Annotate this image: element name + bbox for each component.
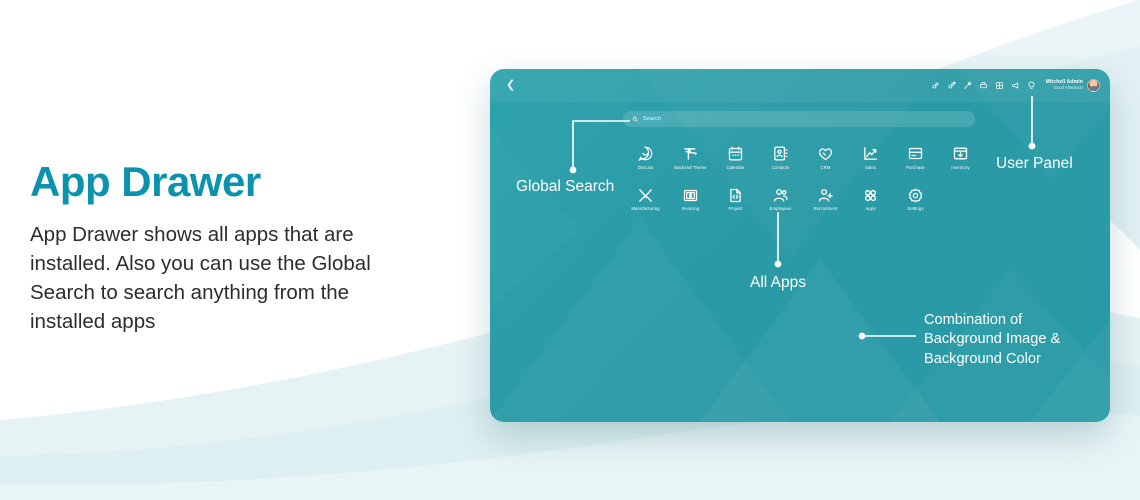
- app-label: Recruitment: [813, 207, 837, 211]
- app-row-1: Discuss Backend Theme: [623, 143, 983, 170]
- app-sales[interactable]: Sales: [848, 143, 893, 170]
- search-placeholder: Search: [643, 116, 661, 122]
- app-label: Apps: [865, 207, 875, 211]
- callout-label-all-apps: All Apps: [750, 273, 806, 293]
- app-label: Calendar: [726, 166, 744, 170]
- app-apps[interactable]: Apps: [848, 185, 893, 212]
- app-label: Invoicing: [682, 207, 700, 211]
- grid-icon[interactable]: [995, 81, 1004, 90]
- deco-triangle-6: [490, 129, 580, 309]
- people-icon: [772, 187, 789, 204]
- app-label: CRM: [820, 166, 830, 170]
- app-label: Inventory: [951, 166, 969, 170]
- bug-icon[interactable]: [931, 81, 940, 90]
- code-file-icon: [727, 187, 744, 204]
- app-employees[interactable]: Employees: [758, 185, 803, 212]
- gear-icon: [907, 187, 924, 204]
- app-grid: Discuss Backend Theme: [623, 143, 983, 212]
- user-text-block: Mitchell Admin Good Afternoon: [1046, 80, 1083, 90]
- system-icons-group: Mitchell Admin Good Afternoon: [931, 79, 1100, 92]
- deco-triangle-2: [700, 259, 940, 422]
- apps-grid-icon: [862, 187, 879, 204]
- callout-label-global-search: Global Search: [516, 177, 614, 197]
- chevron-left-icon[interactable]: ❮: [506, 80, 515, 91]
- app-label: Settings: [907, 207, 923, 211]
- app-settings[interactable]: Settings: [893, 185, 938, 212]
- deco-triangle-1: [490, 219, 790, 422]
- app-drawer-panel: ❮: [490, 69, 1110, 422]
- app-row-2: Manufacturing Invoicing: [623, 185, 983, 212]
- app-discuss[interactable]: Discuss: [623, 143, 668, 170]
- wrench-icon[interactable]: [963, 81, 972, 90]
- print-icon[interactable]: [979, 81, 988, 90]
- panel-top-bar: ❮: [490, 69, 1110, 102]
- intro-copy: App Drawer App Drawer shows all apps tha…: [30, 160, 450, 337]
- app-purchase[interactable]: Purchase: [893, 143, 938, 170]
- page-title: App Drawer: [30, 160, 450, 204]
- callout-label-background: Combination of Background Image & Backgr…: [924, 311, 1060, 369]
- tools-icon: [637, 187, 654, 204]
- app-label: Backend Theme: [674, 166, 706, 170]
- search-input[interactable]: Search: [623, 111, 975, 127]
- search-icon: [632, 116, 638, 122]
- person-add-icon: [817, 187, 834, 204]
- line-chart-icon: [862, 145, 879, 162]
- user-panel[interactable]: Mitchell Admin Good Afternoon: [1046, 79, 1100, 92]
- discuss-icon: [637, 145, 654, 162]
- megaphone-icon[interactable]: [1011, 81, 1020, 90]
- app-label: Purchase: [906, 166, 925, 170]
- invoice-icon: [682, 187, 699, 204]
- bulb-icon[interactable]: [1027, 81, 1036, 90]
- app-crm[interactable]: CRM: [803, 143, 848, 170]
- card-icon: [907, 145, 924, 162]
- app-label: Discuss: [638, 166, 654, 170]
- app-invoicing[interactable]: Invoicing: [668, 185, 713, 212]
- app-manufacturing[interactable]: Manufacturing: [623, 185, 668, 212]
- app-label: Manufacturing: [631, 207, 659, 211]
- app-label: Project: [729, 207, 743, 211]
- paint-roller-icon: [682, 145, 699, 162]
- wave-bottom-3: [0, 409, 1140, 500]
- app-inventory[interactable]: Inventory: [938, 143, 983, 170]
- app-recruitment[interactable]: Recruitment: [803, 185, 848, 212]
- app-label: Employees: [770, 207, 792, 211]
- user-greeting: Good Afternoon: [1046, 86, 1083, 91]
- callout-label-user-panel: User Panel: [996, 154, 1073, 174]
- app-project[interactable]: Project: [713, 185, 758, 212]
- box-download-icon: [952, 145, 969, 162]
- avatar[interactable]: [1087, 79, 1100, 92]
- app-calendar[interactable]: Calendar: [713, 143, 758, 170]
- page-description: App Drawer shows all apps that are insta…: [30, 220, 390, 336]
- contacts-icon: [772, 145, 789, 162]
- app-label: Sales: [865, 166, 876, 170]
- heart-icon: [817, 145, 834, 162]
- app-label: Contacts: [772, 166, 790, 170]
- app-backend-theme[interactable]: Backend Theme: [668, 143, 713, 170]
- activity-icon[interactable]: [947, 81, 956, 90]
- calendar-icon: [727, 145, 744, 162]
- app-contacts[interactable]: Contacts: [758, 143, 803, 170]
